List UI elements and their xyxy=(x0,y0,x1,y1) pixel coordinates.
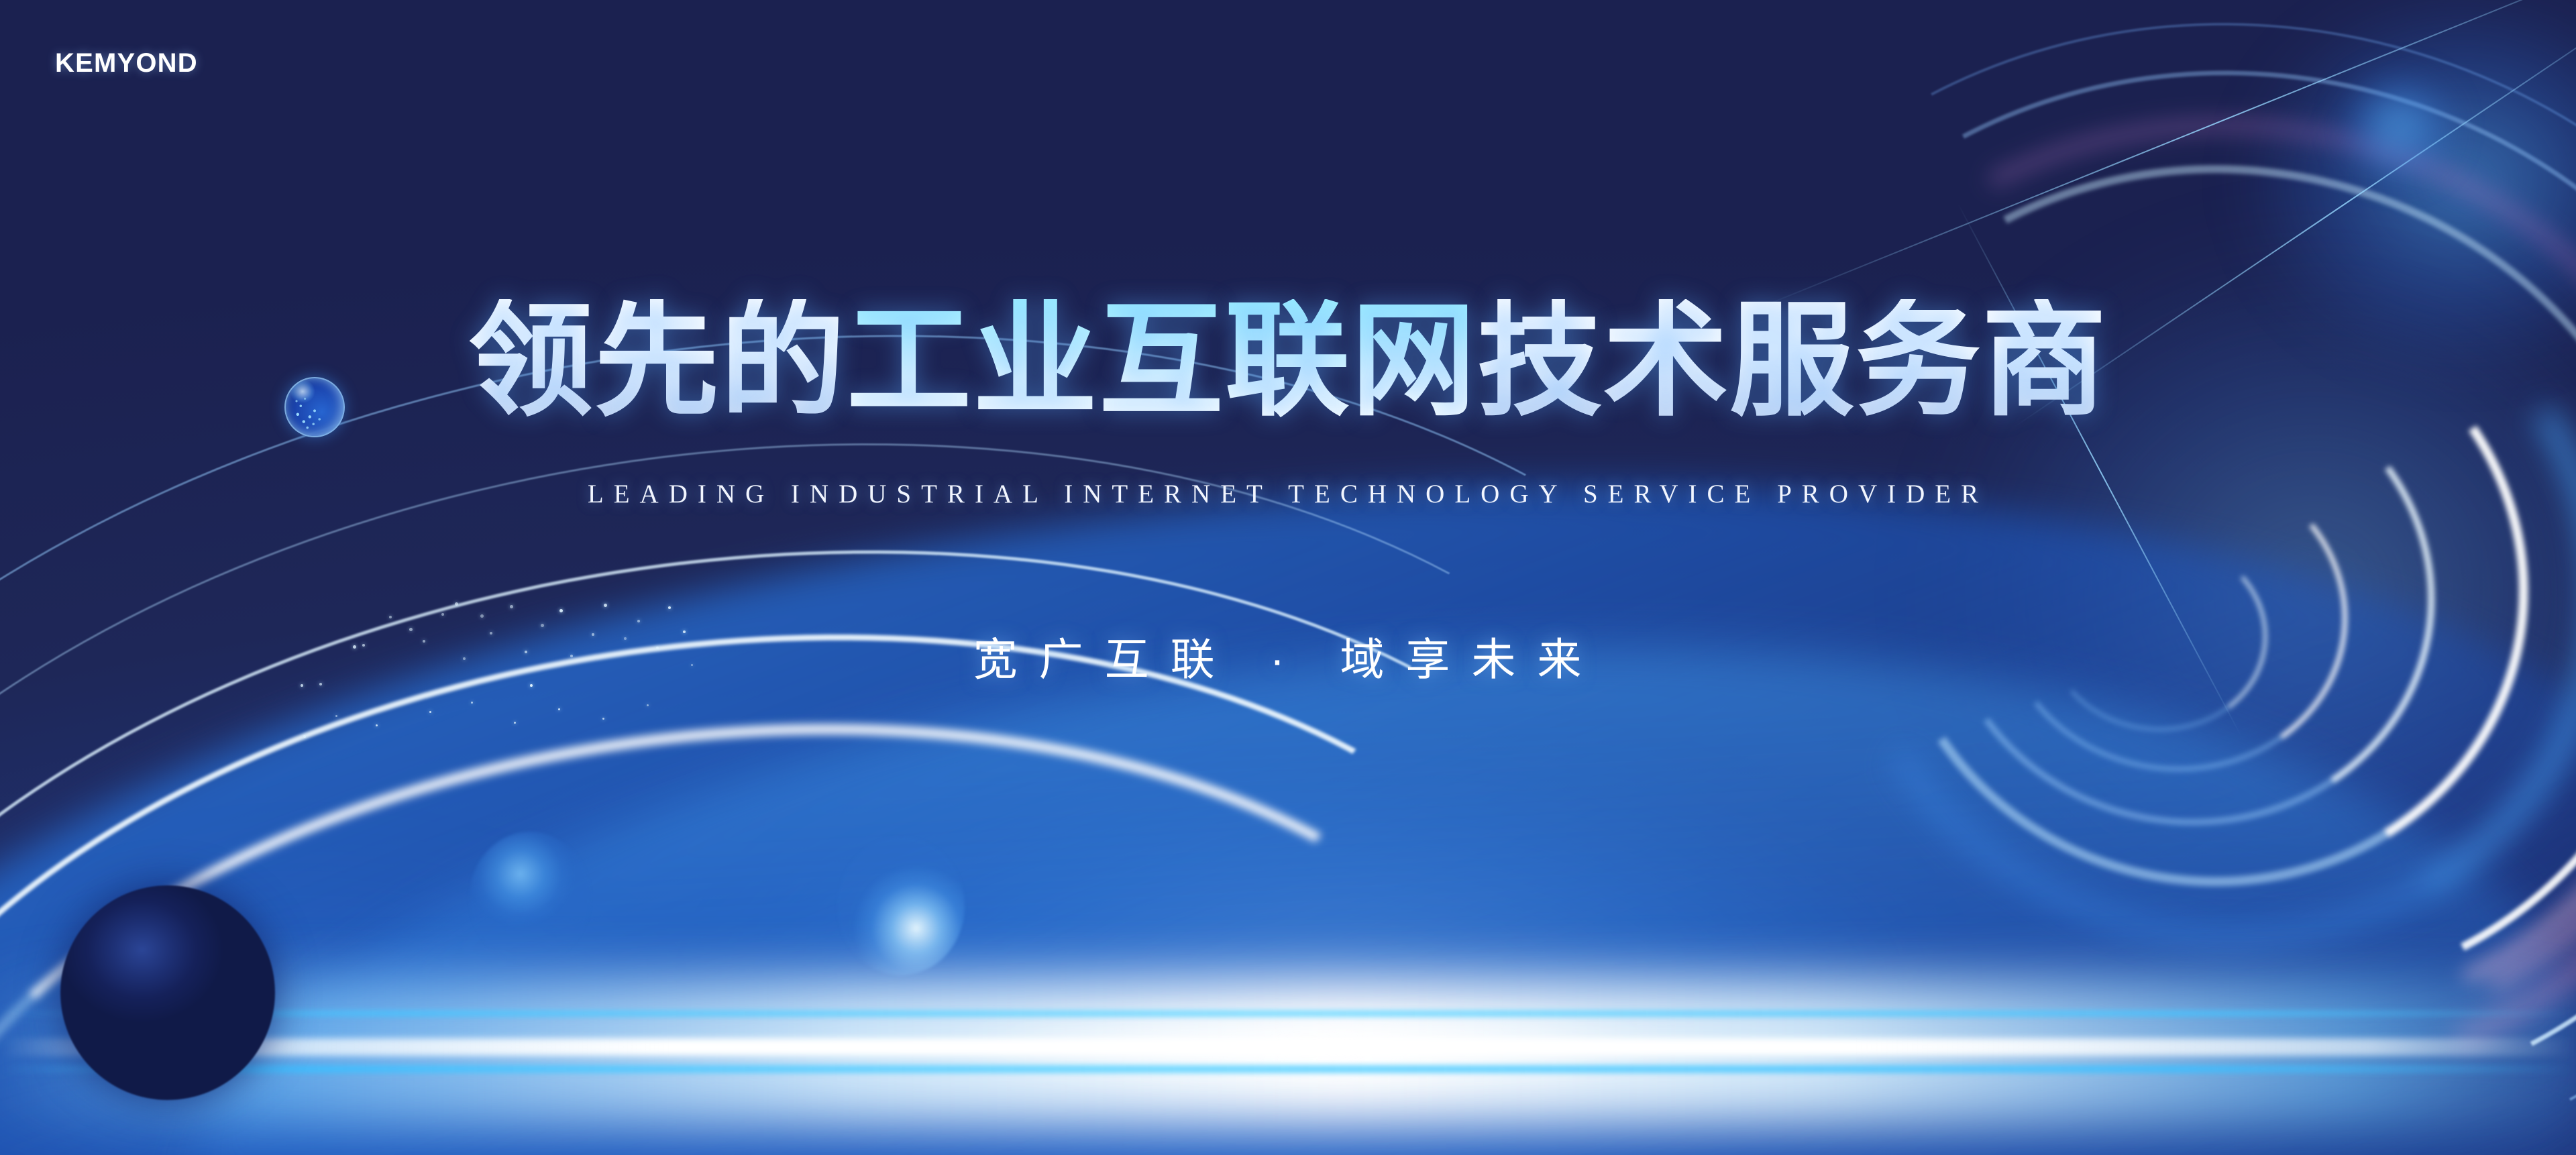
swirl-ring-3 xyxy=(1635,2,2576,1155)
sparkle-dot xyxy=(303,735,306,738)
tagline: 宽广互联 · 域享未来 xyxy=(0,624,2576,688)
sparkle-dot xyxy=(455,602,458,606)
sparkle-dot xyxy=(376,724,378,726)
swirl-ring-2 xyxy=(1570,0,2576,1155)
sparkle-dot xyxy=(471,702,473,704)
blue-wave-shape xyxy=(0,351,2576,1155)
sparkle-dot xyxy=(668,606,671,609)
sparkle-dot xyxy=(335,715,337,717)
light-beam-cyan-upper xyxy=(0,1010,2576,1017)
right-glow xyxy=(1811,121,2576,1060)
swirl-ring-4 xyxy=(1687,60,2576,1107)
background-artwork xyxy=(0,0,2576,1155)
promotional-banner: KEMYOND 领先的工业互联网技术服务商 LEADING INDUSTRIAL… xyxy=(0,0,2576,1155)
sparkle-dot xyxy=(604,604,607,607)
light-beam-cyan-lower xyxy=(0,1065,2576,1073)
swirl-ring-5 xyxy=(1756,138,2576,1030)
mid-sphere-right xyxy=(837,837,965,975)
dark-sphere-bottom-left xyxy=(60,885,275,1100)
lower-left-glow xyxy=(0,791,805,1155)
hairline-arc-1 xyxy=(1754,0,2576,311)
light-beam-halo xyxy=(0,979,2576,1127)
brand-logo: KEMYOND xyxy=(55,48,198,78)
sparkle-dot xyxy=(429,711,431,713)
mid-sphere-left xyxy=(470,832,590,963)
sparkle-dot xyxy=(514,722,516,724)
headline-segment-3: 技术服务商 xyxy=(1477,299,2108,424)
swirl-ring-pink-inner xyxy=(1659,31,2576,1150)
center-glow xyxy=(523,684,2133,1155)
light-beam-hotspot xyxy=(805,1006,1811,1087)
sparkle-dot xyxy=(647,704,649,706)
swirl-ring-1 xyxy=(1497,0,2576,1155)
light-beam-core xyxy=(0,1038,2576,1056)
light-arc-4 xyxy=(0,523,1676,1155)
page-title: 领先的工业互联网技术服务商 xyxy=(0,299,2576,424)
headline-subtitle: LEADING INDUSTRIAL INTERNET TECHNOLOGY S… xyxy=(0,479,2576,509)
sparkle-dot xyxy=(389,616,392,618)
sparkle-dot xyxy=(510,605,513,608)
sparkle-dot xyxy=(441,613,444,616)
headline-segment-2: 工业互联网 xyxy=(847,299,1477,424)
light-arc-5 xyxy=(0,633,1595,1155)
swirl-ring-pink-outer xyxy=(1572,0,2576,1155)
light-arc-3 xyxy=(0,416,1777,1155)
sparkle-dot xyxy=(637,620,640,622)
sparkle-dot xyxy=(558,708,560,710)
sparkle-dot xyxy=(559,609,563,612)
sparkle-dot xyxy=(480,614,484,618)
headline-segment-1: 领先的 xyxy=(468,299,847,424)
top-right-glow-sphere xyxy=(2321,54,2495,228)
sparkle-dot xyxy=(602,718,604,720)
